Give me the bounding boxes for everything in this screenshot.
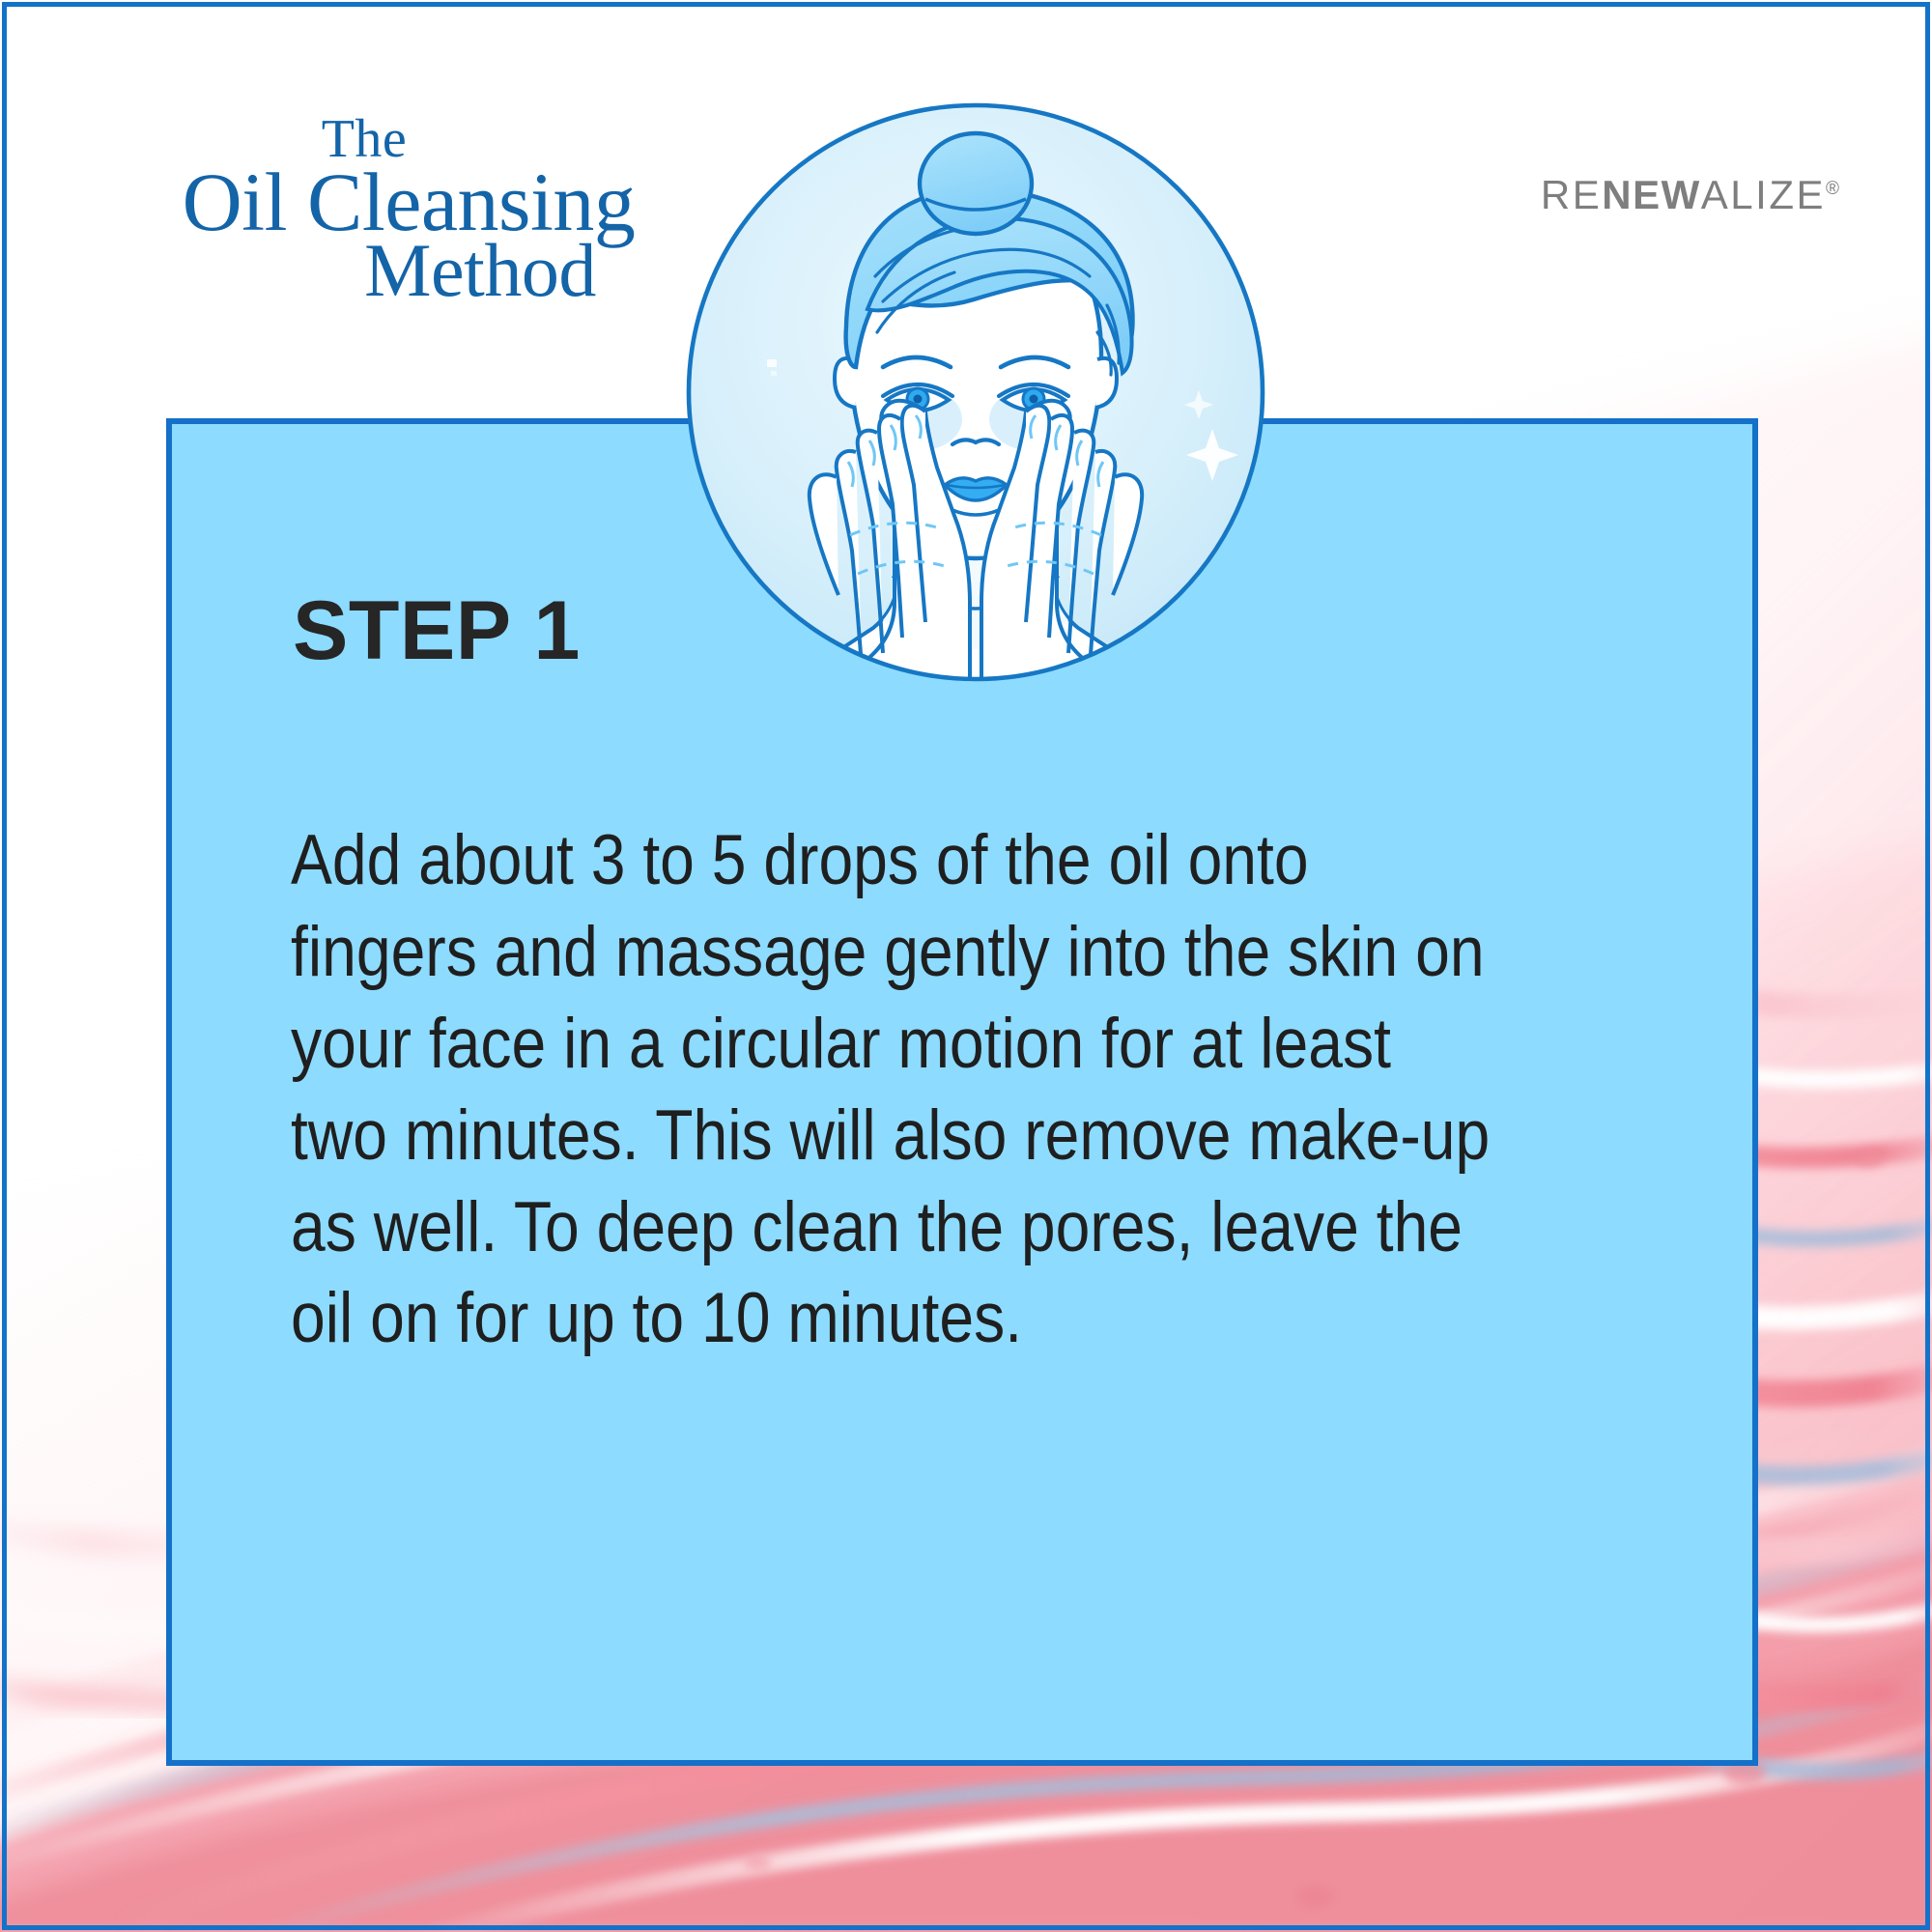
brand-logo: RENEWALIZE® bbox=[1541, 172, 1839, 218]
brand-logo-prefix: RE bbox=[1541, 172, 1602, 217]
step-heading: STEP 1 bbox=[293, 583, 581, 679]
step-body-text: Add about 3 to 5 drops of the oil onto f… bbox=[291, 815, 1498, 1365]
page-title: The Oil Cleansing Method bbox=[166, 114, 668, 306]
woman-massaging-face-illustration bbox=[684, 100, 1267, 684]
poster-canvas: The Oil Cleansing Method RENEWALIZE® STE… bbox=[0, 0, 1932, 1932]
hair-bun bbox=[920, 133, 1032, 234]
brand-logo-suffix: ALIZE bbox=[1701, 172, 1826, 217]
registered-trademark-icon: ® bbox=[1826, 179, 1839, 199]
brand-logo-emphasis: NEW bbox=[1602, 172, 1701, 217]
